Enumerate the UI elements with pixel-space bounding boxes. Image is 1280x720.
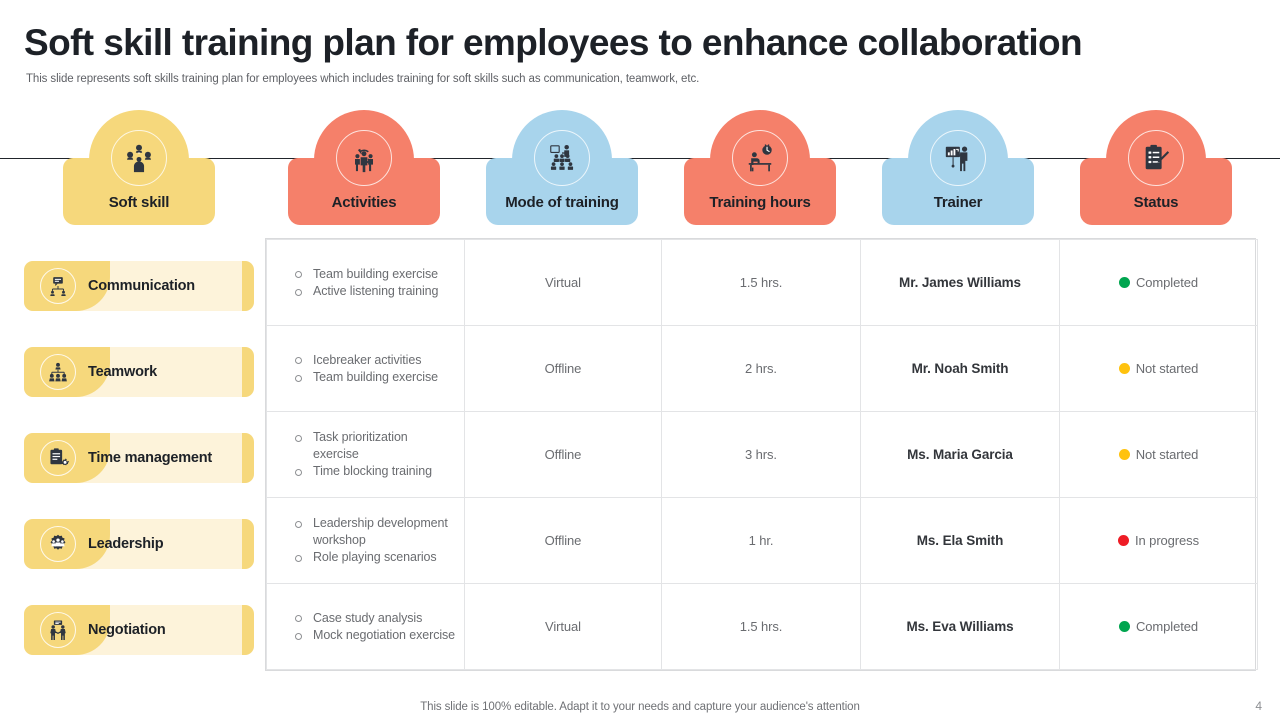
cell-status: Not started [1060, 326, 1258, 412]
column-header-training-hours[interactable]: Training hours [684, 110, 836, 225]
skill-pill-label: Time management [88, 433, 212, 483]
pill-right-tab [242, 261, 254, 311]
status-dot-icon [1119, 621, 1130, 632]
column-header-trainer[interactable]: Trainer [882, 110, 1034, 225]
table-row: Leadership development workshopRole play… [267, 498, 1258, 584]
status-dot-icon [1119, 363, 1130, 374]
status-dot-icon [1119, 449, 1130, 460]
pill-right-tab [242, 519, 254, 569]
cell-trainer: Ms. Maria Garcia [861, 412, 1060, 498]
table-row: Team building exerciseActive listening t… [267, 240, 1258, 326]
slide-root: Soft skill training plan for employees t… [0, 0, 1280, 720]
skill-pill-list: Communication Teamwork Time management L… [0, 0, 270, 720]
clipboard-gear-icon [40, 440, 76, 476]
desk-clock-icon [732, 130, 788, 186]
column-header-status[interactable]: Status [1080, 110, 1232, 225]
status-dot-icon [1119, 277, 1130, 288]
skill-pill-label: Communication [88, 261, 195, 311]
column-header-label: Activities [288, 194, 440, 211]
chat-network-icon [40, 268, 76, 304]
pill-right-tab [242, 433, 254, 483]
column-header-label: Soft skill [63, 194, 215, 211]
activity-item: Role playing scenarios [295, 549, 456, 566]
handshake-deal-icon [40, 612, 76, 648]
cell-activities: Team building exerciseActive listening t… [267, 240, 465, 326]
status-label: Not started [1136, 361, 1199, 376]
cell-trainer: Mr. Noah Smith [861, 326, 1060, 412]
cell-trainer: Ms. Eva Williams [861, 584, 1060, 670]
presenter-board-icon [930, 130, 986, 186]
cell-mode: Virtual [465, 584, 662, 670]
activity-item: Case study analysis [295, 610, 456, 627]
skill-pill-communication[interactable]: Communication [24, 261, 254, 311]
checklist-pen-icon [1128, 130, 1184, 186]
status-badge: In progress [1068, 533, 1249, 548]
column-header-label: Trainer [882, 194, 1034, 211]
cell-mode: Offline [465, 326, 662, 412]
cell-training-hours: 1.5 hrs. [662, 240, 861, 326]
page-number: 4 [1255, 699, 1262, 713]
activity-list: Task prioritization exerciseTime blockin… [275, 429, 456, 480]
cell-mode: Virtual [465, 240, 662, 326]
skill-pill-leadership[interactable]: Leadership [24, 519, 254, 569]
activity-list: Icebreaker activitiesTeam building exerc… [275, 352, 456, 386]
cell-activities: Icebreaker activitiesTeam building exerc… [267, 326, 465, 412]
skill-pill-label: Leadership [88, 519, 163, 569]
training-plan-table: Team building exerciseActive listening t… [265, 238, 1256, 671]
skill-pill-negotiation[interactable]: Negotiation [24, 605, 254, 655]
cell-training-hours: 1 hr. [662, 498, 861, 584]
cell-training-hours: 2 hrs. [662, 326, 861, 412]
activity-item: Team building exercise [295, 266, 456, 283]
leader-gear-icon [40, 526, 76, 562]
activity-item: Mock negotiation exercise [295, 627, 456, 644]
column-header-label: Training hours [684, 194, 836, 211]
team-group-icon [40, 354, 76, 390]
skill-pill-time-management[interactable]: Time management [24, 433, 254, 483]
table-row: Icebreaker activitiesTeam building exerc… [267, 326, 1258, 412]
team-cycle-icon [336, 130, 392, 186]
training-plan-table-element: Team building exerciseActive listening t… [266, 239, 1258, 670]
cell-status: Completed [1060, 240, 1258, 326]
cell-training-hours: 1.5 hrs. [662, 584, 861, 670]
status-dot-icon [1118, 535, 1129, 546]
activity-item: Icebreaker activities [295, 352, 456, 369]
table-row: Task prioritization exerciseTime blockin… [267, 412, 1258, 498]
activity-list: Team building exerciseActive listening t… [275, 266, 456, 300]
status-label: In progress [1135, 533, 1199, 548]
cell-mode: Offline [465, 498, 662, 584]
cell-activities: Leadership development workshopRole play… [267, 498, 465, 584]
cell-status: In progress [1060, 498, 1258, 584]
cell-activities: Task prioritization exerciseTime blockin… [267, 412, 465, 498]
skill-pill-teamwork[interactable]: Teamwork [24, 347, 254, 397]
column-header-label: Mode of training [486, 194, 638, 211]
skill-pill-label: Negotiation [88, 605, 166, 655]
column-header-label: Status [1080, 194, 1232, 211]
cell-status: Not started [1060, 412, 1258, 498]
cell-mode: Offline [465, 412, 662, 498]
training-plan-table-body: Team building exerciseActive listening t… [267, 240, 1258, 670]
status-badge: Not started [1068, 447, 1249, 462]
pill-right-tab [242, 605, 254, 655]
cell-trainer: Mr. James Williams [861, 240, 1060, 326]
activity-list: Case study analysisMock negotiation exer… [275, 610, 456, 644]
classroom-icon [534, 130, 590, 186]
activity-item: Leadership development workshop [295, 515, 456, 548]
footer-note: This slide is 100% editable. Adapt it to… [0, 701, 1280, 713]
status-label: Completed [1136, 619, 1198, 634]
cell-activities: Case study analysisMock negotiation exer… [267, 584, 465, 670]
column-header-activities[interactable]: Activities [288, 110, 440, 225]
cell-training-hours: 3 hrs. [662, 412, 861, 498]
cell-status: Completed [1060, 584, 1258, 670]
activity-item: Time blocking training [295, 463, 456, 480]
status-label: Not started [1136, 447, 1199, 462]
cell-trainer: Ms. Ela Smith [861, 498, 1060, 584]
activity-list: Leadership development workshopRole play… [275, 515, 456, 566]
table-row: Case study analysisMock negotiation exer… [267, 584, 1258, 670]
column-header-mode-of-training[interactable]: Mode of training [486, 110, 638, 225]
activity-item: Team building exercise [295, 369, 456, 386]
activity-item: Active listening training [295, 283, 456, 300]
status-label: Completed [1136, 275, 1198, 290]
status-badge: Not started [1068, 361, 1249, 376]
skill-pill-label: Teamwork [88, 347, 157, 397]
status-badge: Completed [1068, 619, 1249, 634]
status-badge: Completed [1068, 275, 1249, 290]
activity-item: Task prioritization exercise [295, 429, 456, 462]
people-skills-icon [111, 130, 167, 186]
pill-right-tab [242, 347, 254, 397]
